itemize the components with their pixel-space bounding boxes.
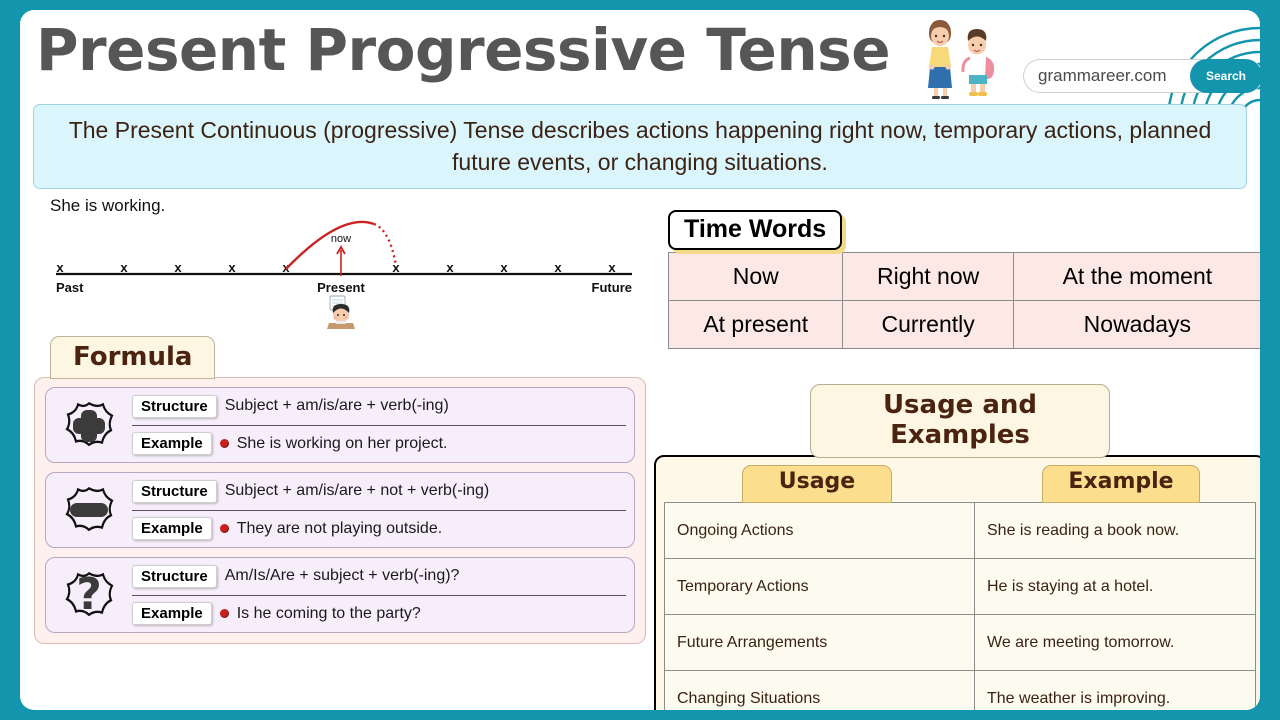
usage-cell: Temporary Actions bbox=[665, 559, 975, 615]
table-row: At present Currently Nowadays bbox=[669, 301, 1261, 349]
badge-cell: ? bbox=[46, 558, 132, 632]
example-column-header: Example bbox=[1042, 465, 1200, 503]
svg-text:Present: Present bbox=[317, 280, 365, 295]
example-text: She is working on her project. bbox=[237, 435, 448, 453]
plus-sign-badge-icon bbox=[54, 391, 124, 459]
timeline-graphic: x x x x x x x x x x now Past Present bbox=[34, 214, 644, 334]
table-row: Changing Situations The weather is impro… bbox=[665, 671, 1256, 711]
formula-lines: Structure Subject + am/is/are + verb(-in… bbox=[132, 388, 634, 462]
formula-lines: Structure Subject + am/is/are + not + ve… bbox=[132, 473, 634, 547]
table-row: Temporary Actions He is staying at a hot… bbox=[665, 559, 1256, 615]
formula-section: Formula Structure Subject + am/is/are + … bbox=[34, 336, 646, 644]
usage-cell: Changing Situations bbox=[665, 671, 975, 711]
formula-tab-label: Formula bbox=[50, 336, 215, 379]
page-header: Present Progressive Tense bbox=[20, 10, 1260, 96]
example-text: They are not playing outside. bbox=[237, 520, 442, 538]
formula-lines: Structure Am/Is/Are + subject + verb(-in… bbox=[132, 558, 634, 632]
svg-text:x: x bbox=[608, 260, 616, 275]
timeline-section: She is working. x x x x x x x x x x bbox=[34, 196, 644, 336]
usage-section-title: Usage and Examples bbox=[810, 384, 1110, 458]
time-word-cell: At the moment bbox=[1013, 253, 1260, 301]
example-cell: He is staying at a hotel. bbox=[975, 559, 1256, 615]
infographic-page: Present Progressive Tense bbox=[20, 10, 1260, 710]
formula-row-question: ? Structure Am/Is/Are + subject + verb(-… bbox=[45, 557, 635, 633]
example-label: Example bbox=[132, 602, 212, 625]
time-words-heading: Time Words bbox=[668, 210, 842, 250]
description-text: The Present Continuous (progressive) Ten… bbox=[56, 115, 1224, 178]
page-title: Present Progressive Tense bbox=[36, 16, 890, 84]
time-words-table: Now Right now At the moment At present C… bbox=[668, 252, 1260, 349]
example-line: Example Is he coming to the party? bbox=[132, 596, 626, 633]
time-word-cell: Currently bbox=[843, 301, 1013, 349]
time-word-cell: Nowadays bbox=[1013, 301, 1260, 349]
timeline-caption: She is working. bbox=[50, 196, 644, 216]
formula-body: Structure Subject + am/is/are + verb(-in… bbox=[34, 377, 646, 644]
usage-cell: Future Arrangements bbox=[665, 615, 975, 671]
svg-text:x: x bbox=[174, 260, 182, 275]
example-label: Example bbox=[132, 432, 212, 455]
example-cell: The weather is improving. bbox=[975, 671, 1256, 711]
usage-table: Ongoing Actions She is reading a book no… bbox=[664, 502, 1256, 710]
svg-text:x: x bbox=[228, 260, 236, 275]
table-row: Ongoing Actions She is reading a book no… bbox=[665, 503, 1256, 559]
svg-text:x: x bbox=[120, 260, 128, 275]
svg-text:now: now bbox=[331, 233, 351, 245]
svg-text:x: x bbox=[554, 260, 562, 275]
formula-row-positive: Structure Subject + am/is/are + verb(-in… bbox=[45, 387, 635, 463]
time-words-section: Time Words Now Right now At the moment A… bbox=[668, 210, 1260, 349]
svg-text:x: x bbox=[56, 260, 64, 275]
structure-text: Subject + am/is/are + verb(-ing) bbox=[225, 397, 449, 415]
svg-text:Past: Past bbox=[56, 280, 84, 295]
formula-row-negative: Structure Subject + am/is/are + not + ve… bbox=[45, 472, 635, 548]
teacher-and-student-illustration bbox=[908, 14, 1028, 100]
time-word-cell: Right now bbox=[843, 253, 1013, 301]
badge-cell bbox=[46, 473, 132, 547]
bullet-dot-icon bbox=[220, 524, 229, 533]
time-word-cell: Now bbox=[669, 253, 843, 301]
structure-text: Subject + am/is/are + not + verb(-ing) bbox=[225, 482, 490, 500]
structure-line: Structure Am/Is/Are + subject + verb(-in… bbox=[132, 558, 626, 596]
description-banner: The Present Continuous (progressive) Ten… bbox=[33, 104, 1247, 189]
structure-label: Structure bbox=[132, 395, 217, 418]
usage-column-pills: Usage Example bbox=[664, 465, 1256, 503]
structure-line: Structure Subject + am/is/are + not + ve… bbox=[132, 473, 626, 511]
usage-body: Usage Example Ongoing Actions She is rea… bbox=[654, 455, 1260, 710]
structure-line: Structure Subject + am/is/are + verb(-in… bbox=[132, 388, 626, 426]
example-cell: We are meeting tomorrow. bbox=[975, 615, 1256, 671]
table-row: Future Arrangements We are meeting tomor… bbox=[665, 615, 1256, 671]
example-label: Example bbox=[132, 517, 212, 540]
search-button[interactable]: Search bbox=[1190, 59, 1260, 93]
site-search-widget[interactable]: grammareer.com Search bbox=[1023, 59, 1260, 93]
structure-label: Structure bbox=[132, 480, 217, 503]
bullet-dot-icon bbox=[220, 439, 229, 448]
search-input[interactable]: grammareer.com bbox=[1024, 66, 1190, 86]
minus-sign-badge-icon bbox=[54, 476, 124, 544]
svg-text:x: x bbox=[446, 260, 454, 275]
question-mark-badge-icon: ? bbox=[54, 561, 124, 629]
usage-and-examples-section: Usage and Examples Usage Example Ongoing… bbox=[654, 384, 1260, 710]
svg-text:x: x bbox=[500, 260, 508, 275]
bullet-dot-icon bbox=[220, 609, 229, 618]
example-text: Is he coming to the party? bbox=[237, 605, 421, 623]
svg-text:Future: Future bbox=[592, 280, 632, 295]
example-line: Example They are not playing outside. bbox=[132, 511, 626, 548]
time-word-cell: At present bbox=[669, 301, 843, 349]
example-cell: She is reading a book now. bbox=[975, 503, 1256, 559]
svg-text:?: ? bbox=[76, 569, 102, 620]
usage-cell: Ongoing Actions bbox=[665, 503, 975, 559]
usage-column-header: Usage bbox=[742, 465, 892, 503]
example-line: Example She is working on her project. bbox=[132, 426, 626, 463]
table-row: Now Right now At the moment bbox=[669, 253, 1261, 301]
structure-text: Am/Is/Are + subject + verb(-ing)? bbox=[225, 567, 460, 585]
structure-label: Structure bbox=[132, 565, 217, 588]
badge-cell bbox=[46, 388, 132, 462]
